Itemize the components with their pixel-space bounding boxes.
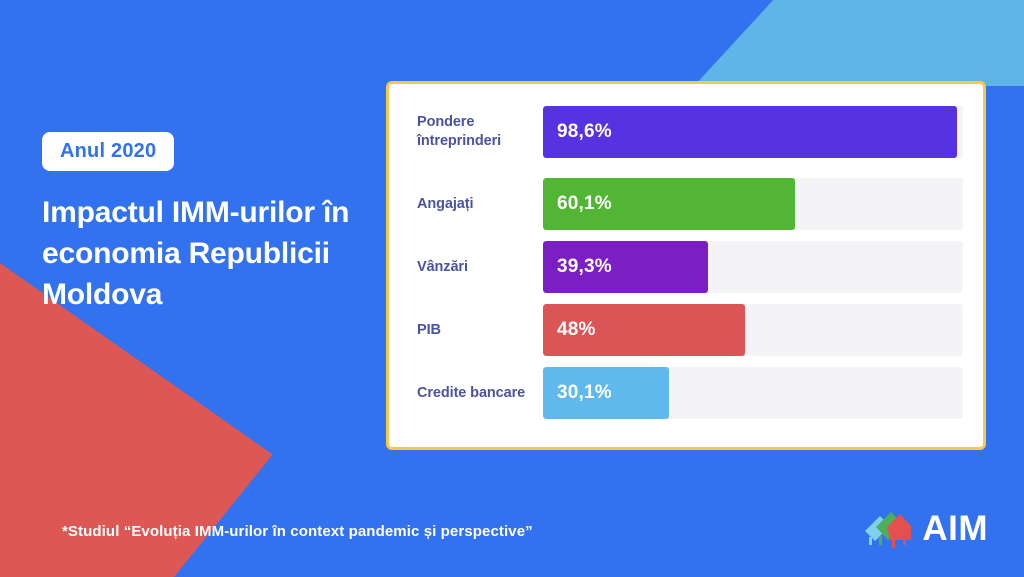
aim-logo-mark-icon <box>863 507 913 549</box>
bar-track: 39,3% <box>543 241 963 293</box>
bar-track: 48% <box>543 304 963 356</box>
year-badge: Anul 2020 <box>42 132 174 171</box>
bar-value-label: 30,1% <box>543 382 612 404</box>
bar-track: 98,6% <box>543 106 963 158</box>
chart-card: Pondere întreprinderi 98,6% Angajați 60,… <box>386 81 986 450</box>
source-footnote: *Studiul “Evoluția IMM-urilor în context… <box>62 523 533 540</box>
chart-row: Pondere întreprinderi 98,6% <box>417 106 963 158</box>
logo-drip-red2 <box>903 538 906 545</box>
bar-label: Credite bancare <box>417 384 543 403</box>
bar-fill: 48% <box>543 304 745 356</box>
logo-drip-blue <box>869 537 872 545</box>
bar-label: Angajați <box>417 195 543 214</box>
aim-logo-text: AIM <box>922 511 988 546</box>
bar-label: Pondere întreprinderi <box>417 113 543 151</box>
bar-fill: 30,1% <box>543 367 669 419</box>
left-text-column: Anul 2020 Impactul IMM-urilor în economi… <box>42 132 372 315</box>
bar-chart: Pondere întreprinderi 98,6% Angajați 60,… <box>389 84 983 447</box>
page-title: Impactul IMM-urilor în economia Republic… <box>42 193 372 315</box>
chart-row: Angajați 60,1% <box>417 178 963 230</box>
logo-drip-red1 <box>892 538 895 548</box>
bar-fill: 98,6% <box>543 106 957 158</box>
chart-row: Credite bancare 30,1% <box>417 367 963 419</box>
bar-value-label: 39,3% <box>543 256 612 278</box>
bar-track: 30,1% <box>543 367 963 419</box>
bar-track: 60,1% <box>543 178 963 230</box>
bar-fill: 39,3% <box>543 241 708 293</box>
chart-row: PIB 48% <box>417 304 963 356</box>
bar-value-label: 48% <box>543 319 596 341</box>
bar-value-label: 60,1% <box>543 193 612 215</box>
aim-logo: AIM <box>863 507 988 549</box>
bar-value-label: 98,6% <box>543 121 612 143</box>
infographic-canvas: Anul 2020 Impactul IMM-urilor în economi… <box>0 0 1024 577</box>
bar-label: PIB <box>417 321 543 340</box>
chart-row: Vânzări 39,3% <box>417 241 963 293</box>
logo-drip-green <box>879 536 882 545</box>
bar-fill: 60,1% <box>543 178 795 230</box>
bar-label: Vânzări <box>417 258 543 277</box>
